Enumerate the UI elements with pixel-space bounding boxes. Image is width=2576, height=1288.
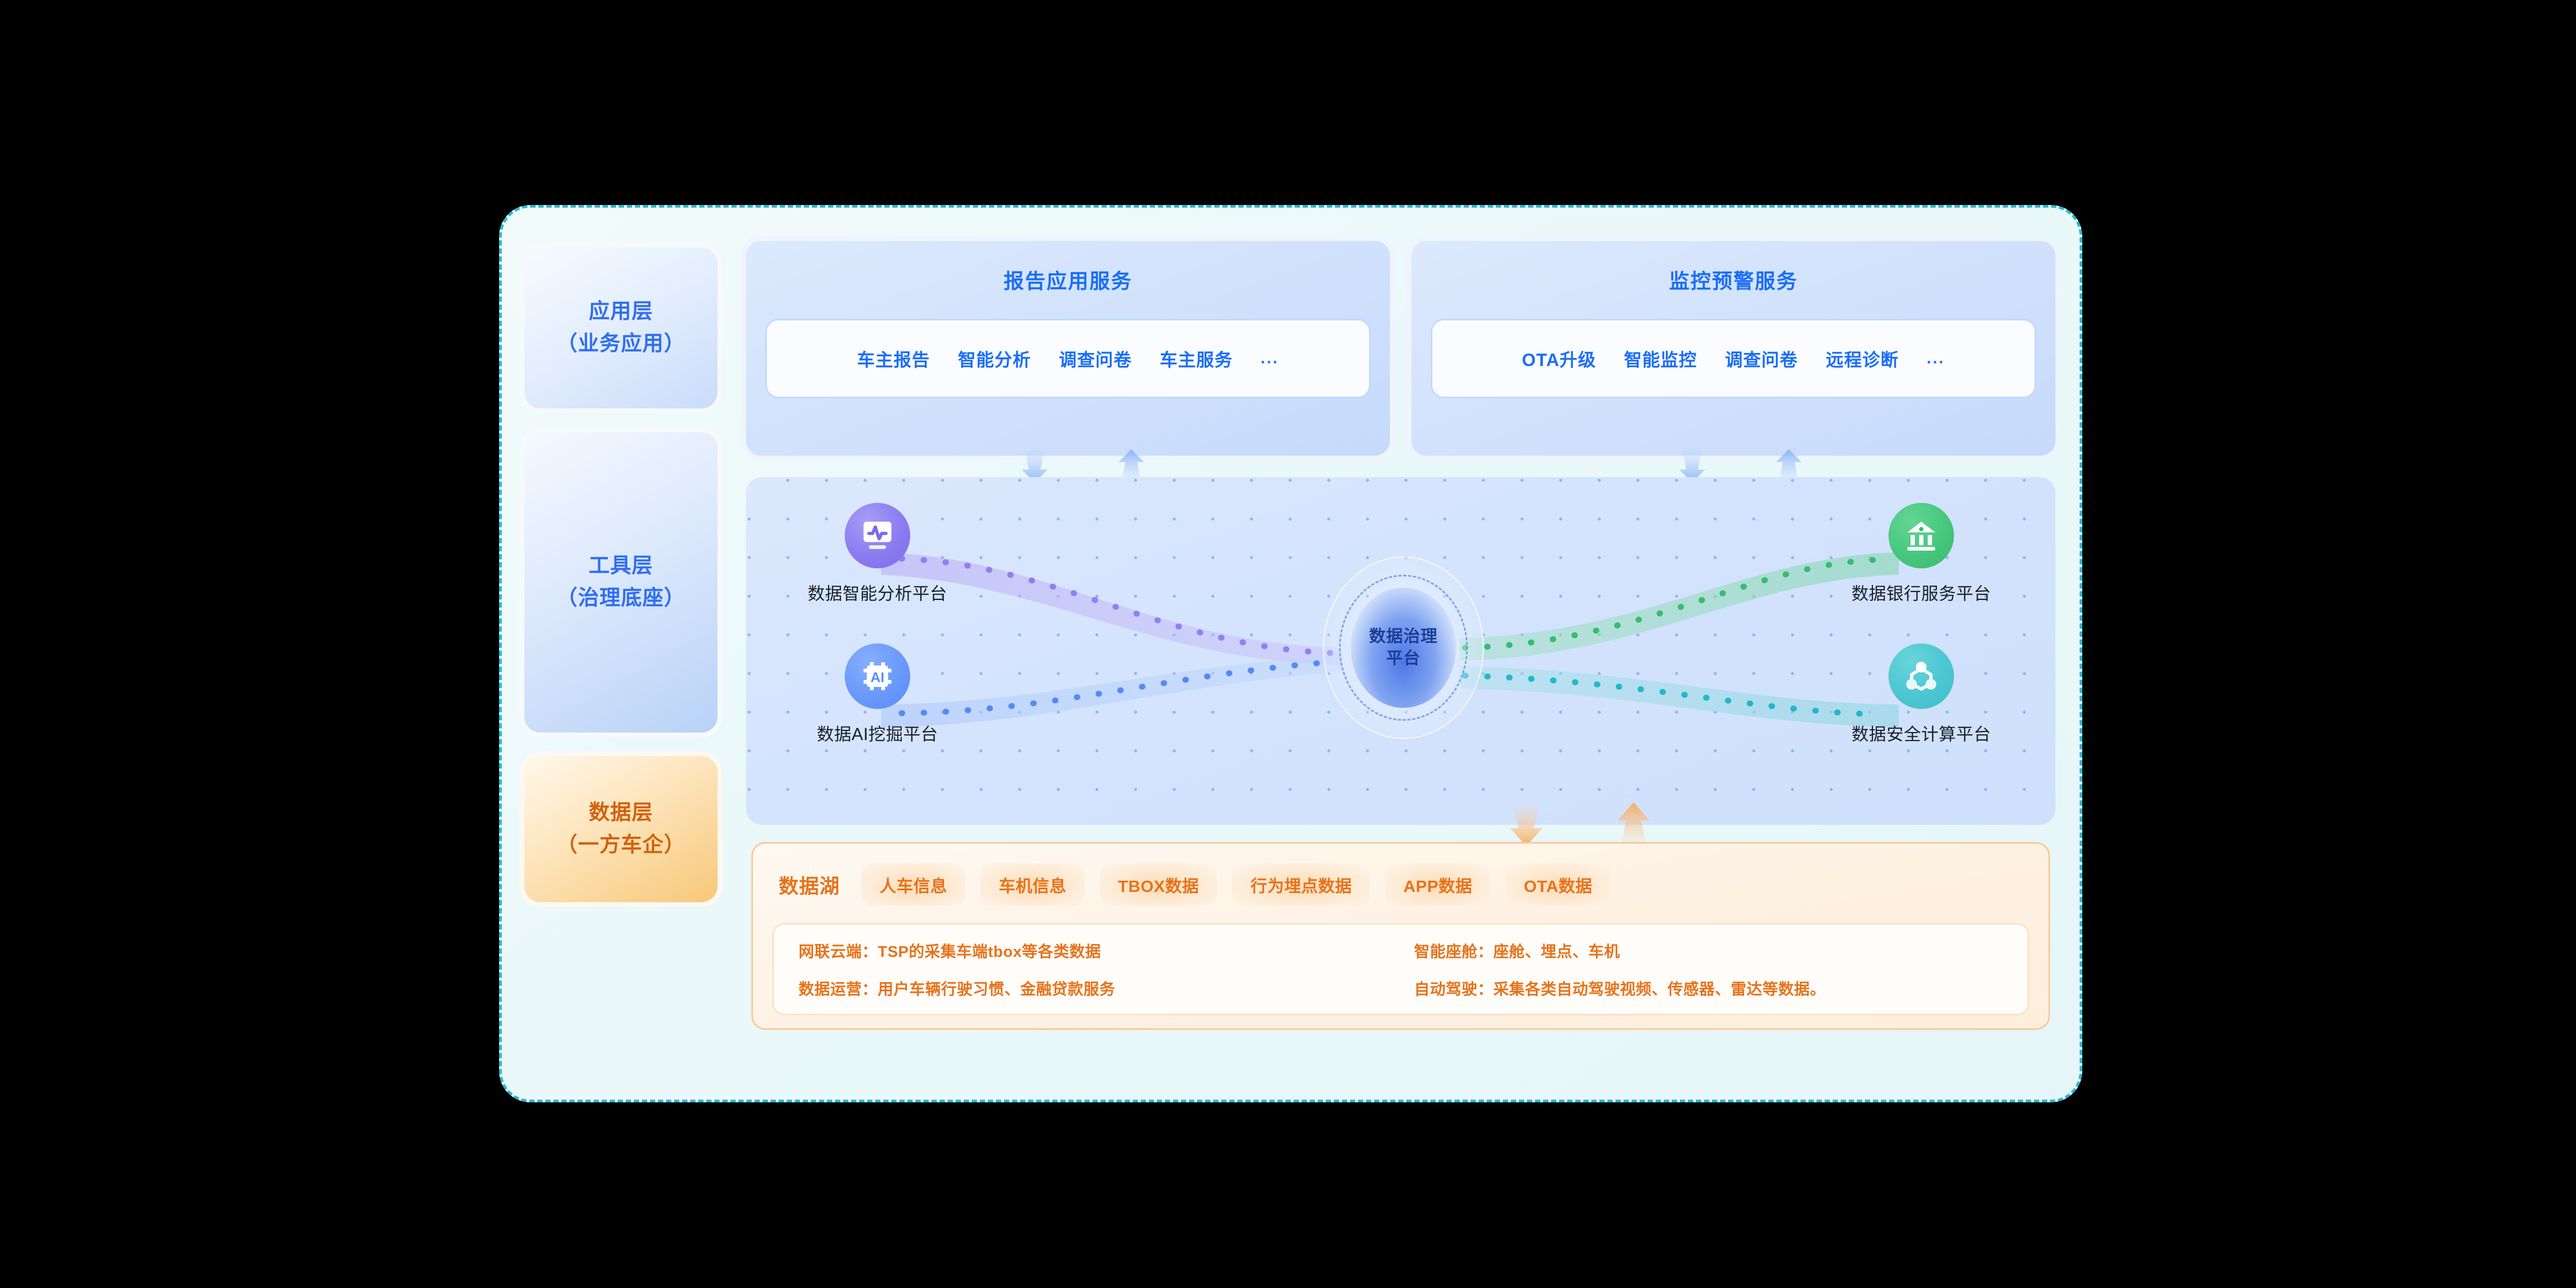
platform-node-security[interactable]: 数据安全计算平台 xyxy=(1843,643,1999,745)
platform-node-label: 数据智能分析平台 xyxy=(808,580,947,605)
data-lake-title: 数据湖 xyxy=(779,870,840,899)
ai-chip-icon: AI xyxy=(845,643,910,709)
layer-subtitle: （治理底座） xyxy=(557,582,685,614)
svg-text:AI: AI xyxy=(870,669,884,685)
platform-node-label: 数据安全计算平台 xyxy=(1851,721,1991,745)
data-lake-pill[interactable]: OTA数据 xyxy=(1505,863,1611,905)
service-tag[interactable]: 车主报告 xyxy=(857,346,930,371)
data-source-description-box: 网联云端：TSP的采集车端tbox等各类数据 数据运营：用户车辆行驶习惯、金融贷… xyxy=(772,923,2029,1015)
sidebar-layer-data[interactable]: 数据层 （一方车企） xyxy=(524,756,718,902)
service-tag-more[interactable]: ... xyxy=(1927,349,1945,368)
layer-subtitle: （一方车企） xyxy=(557,829,685,861)
service-card-title: 报告应用服务 xyxy=(1004,265,1132,294)
service-tag-group: 车主报告 智能分析 调查问卷 车主服务 ... xyxy=(765,319,1371,398)
layer-name: 工具层 xyxy=(589,550,653,582)
service-tag[interactable]: 调查问卷 xyxy=(1725,346,1798,371)
service-card-report[interactable]: 报告应用服务 车主报告 智能分析 调查问卷 车主服务 ... xyxy=(746,241,1390,456)
platform-node-ai-mining[interactable]: AI 数据AI挖掘平台 xyxy=(800,643,955,745)
layer-subtitle: （业务应用） xyxy=(557,328,685,360)
sidebar-layer-tool[interactable]: 工具层 （治理底座） xyxy=(524,432,718,733)
service-tag[interactable]: 智能监控 xyxy=(1624,346,1697,371)
service-card-title: 监控预警服务 xyxy=(1669,265,1798,294)
hub-core: 数据治理 平台 xyxy=(1351,588,1456,708)
service-tag[interactable]: OTA升级 xyxy=(1522,346,1596,371)
service-tag[interactable]: 远程诊断 xyxy=(1826,346,1899,371)
service-card-monitor[interactable]: 监控预警服务 OTA升级 智能监控 调查问卷 远程诊断 ... xyxy=(1411,241,2055,456)
node-shield-icon xyxy=(1889,643,1954,709)
platform-node-label: 数据银行服务平台 xyxy=(1851,580,1991,605)
data-lake-pill[interactable]: 人车信息 xyxy=(861,863,965,905)
description-line: 自动驾驶：采集各类自动驾驶视频、传感器、雷达等数据。 xyxy=(1414,977,2003,999)
data-lake-pill[interactable]: 车机信息 xyxy=(980,863,1085,905)
connector-arrows-tool-data xyxy=(746,797,2055,846)
platform-node-analysis[interactable]: 数据智能分析平台 xyxy=(800,503,955,605)
hub-label-line2: 平台 xyxy=(1386,648,1421,670)
platform-node-label: 数据AI挖掘平台 xyxy=(817,721,938,745)
data-lake-pill[interactable]: APP数据 xyxy=(1385,863,1490,905)
data-lake-pill[interactable]: TBOX数据 xyxy=(1100,863,1217,905)
sidebar-layer-application[interactable]: 应用层 （业务应用） xyxy=(524,247,718,408)
monitor-pulse-icon xyxy=(845,503,910,568)
service-tag-more[interactable]: ... xyxy=(1261,349,1279,368)
description-column-left: 网联云端：TSP的采集车端tbox等各类数据 数据运营：用户车辆行驶习惯、金融贷… xyxy=(799,939,1387,999)
description-line: 智能座舱：座舱、埋点、车机 xyxy=(1414,939,2003,962)
application-layer: 报告应用服务 车主报告 智能分析 调查问卷 车主服务 ... 监控预警服务 OT… xyxy=(746,241,2055,456)
service-tag[interactable]: 车主服务 xyxy=(1160,346,1233,371)
architecture-diagram-container: 应用层 （业务应用） 工具层 （治理底座） 数据层 （一方车企） 报告应用服务 … xyxy=(499,205,2082,1102)
bank-icon xyxy=(1889,503,1954,568)
service-tag[interactable]: 智能分析 xyxy=(958,346,1031,371)
platform-node-bank[interactable]: 数据银行服务平台 xyxy=(1843,503,1999,605)
tool-layer: 数据智能分析平台 AI 数据AI挖掘平台 xyxy=(746,477,2055,825)
layer-name: 应用层 xyxy=(589,296,653,328)
description-column-right: 智能座舱：座舱、埋点、车机 自动驾驶：采集各类自动驾驶视频、传感器、雷达等数据。 xyxy=(1387,939,2003,999)
description-line: 数据运营：用户车辆行驶习惯、金融贷款服务 xyxy=(799,977,1387,999)
layer-name: 数据层 xyxy=(589,797,653,829)
service-tag-group: OTA升级 智能监控 调查问卷 远程诊断 ... xyxy=(1431,319,2036,398)
central-hub-data-governance[interactable]: 数据治理 平台 xyxy=(1323,557,1484,739)
data-lake-pill[interactable]: 行为埋点数据 xyxy=(1232,863,1370,905)
description-line: 网联云端：TSP的采集车端tbox等各类数据 xyxy=(799,939,1387,962)
service-tag[interactable]: 调查问卷 xyxy=(1059,346,1132,371)
hub-label-line1: 数据治理 xyxy=(1369,626,1438,648)
data-lake-row: 数据湖 人车信息 车机信息 TBOX数据 行为埋点数据 APP数据 OTA数据 xyxy=(772,860,2029,909)
data-layer-panel: 数据湖 人车信息 车机信息 TBOX数据 行为埋点数据 APP数据 OTA数据 … xyxy=(751,842,2050,1030)
